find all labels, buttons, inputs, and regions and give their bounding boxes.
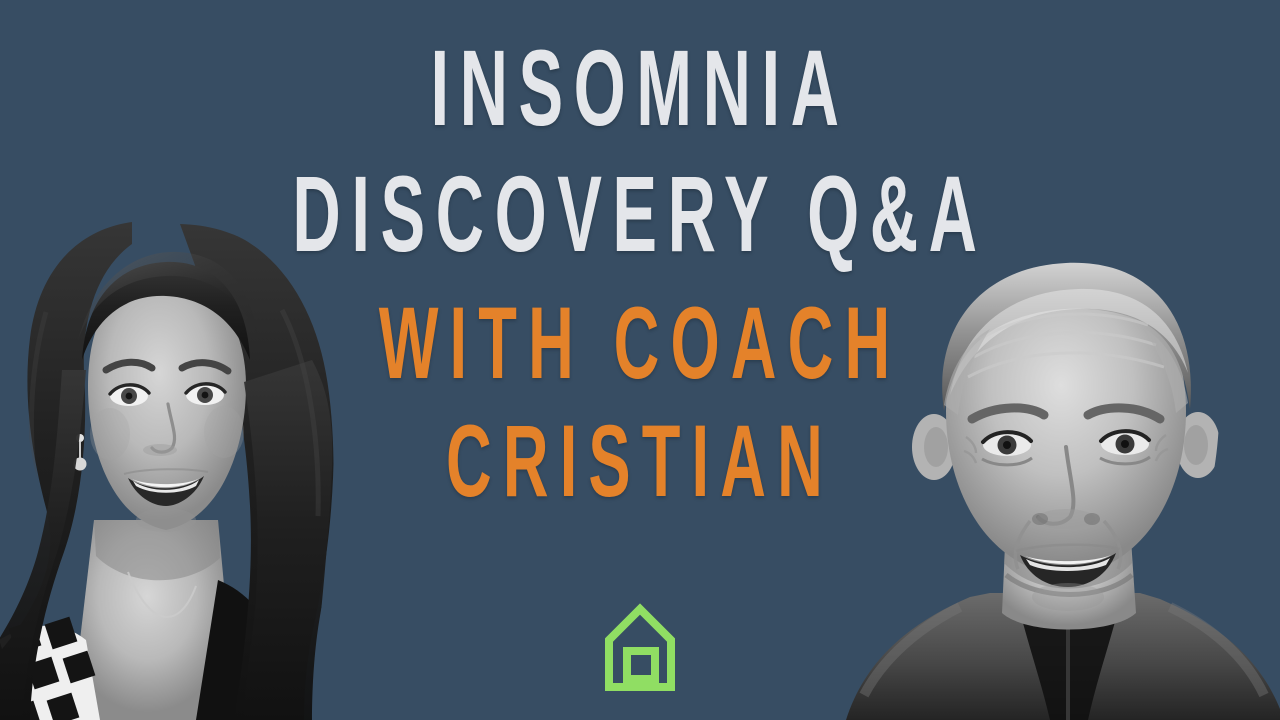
video-thumbnail: INSOMNIA DISCOVERY Q&A WITH COACH CRISTI… xyxy=(0,0,1280,720)
title-line-cristian: CRISTIAN xyxy=(243,410,1037,512)
title-block: INSOMNIA DISCOVERY Q&A WITH COACH CRISTI… xyxy=(0,34,1280,528)
title-line-insomnia: INSOMNIA xyxy=(243,34,1037,142)
house-logo-icon xyxy=(602,598,678,694)
title-line-with-coach: WITH COACH xyxy=(243,292,1037,394)
title-line-discovery-qa: DISCOVERY Q&A xyxy=(243,160,1037,268)
